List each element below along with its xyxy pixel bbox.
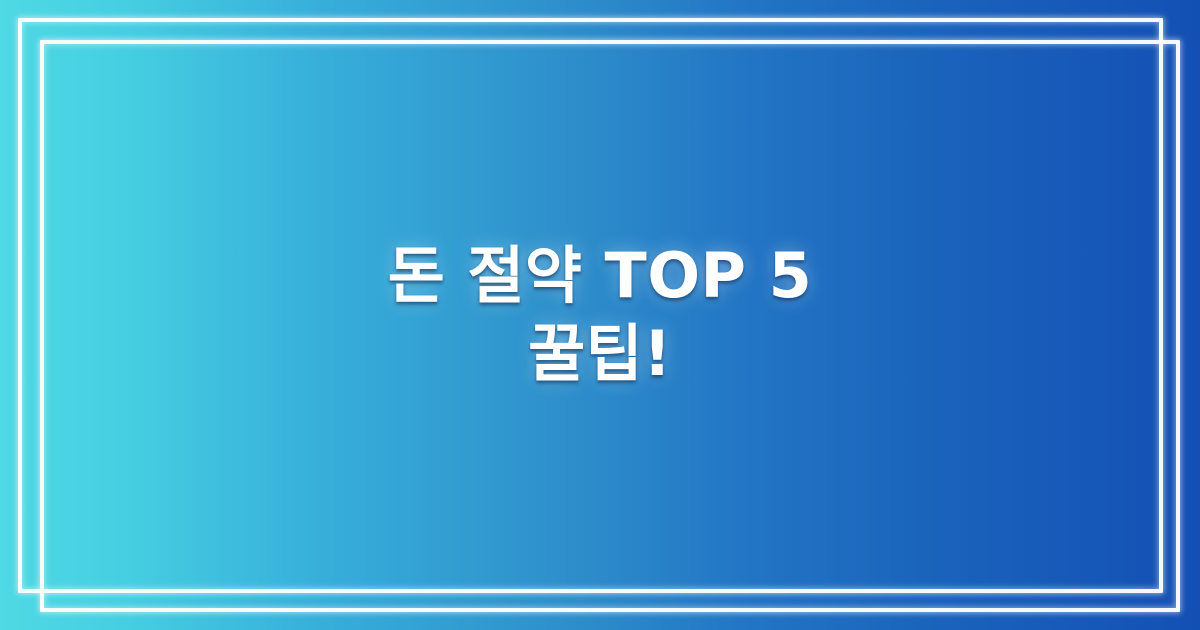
title-line-2: 꿀팁! xyxy=(388,315,812,393)
banner-card: 돈 절약 TOP 5 꿀팁! xyxy=(0,0,1200,630)
title-container: 돈 절약 TOP 5 꿀팁! xyxy=(0,0,1200,630)
page-title: 돈 절약 TOP 5 꿀팁! xyxy=(388,237,812,393)
title-line-1: 돈 절약 TOP 5 xyxy=(388,237,812,315)
